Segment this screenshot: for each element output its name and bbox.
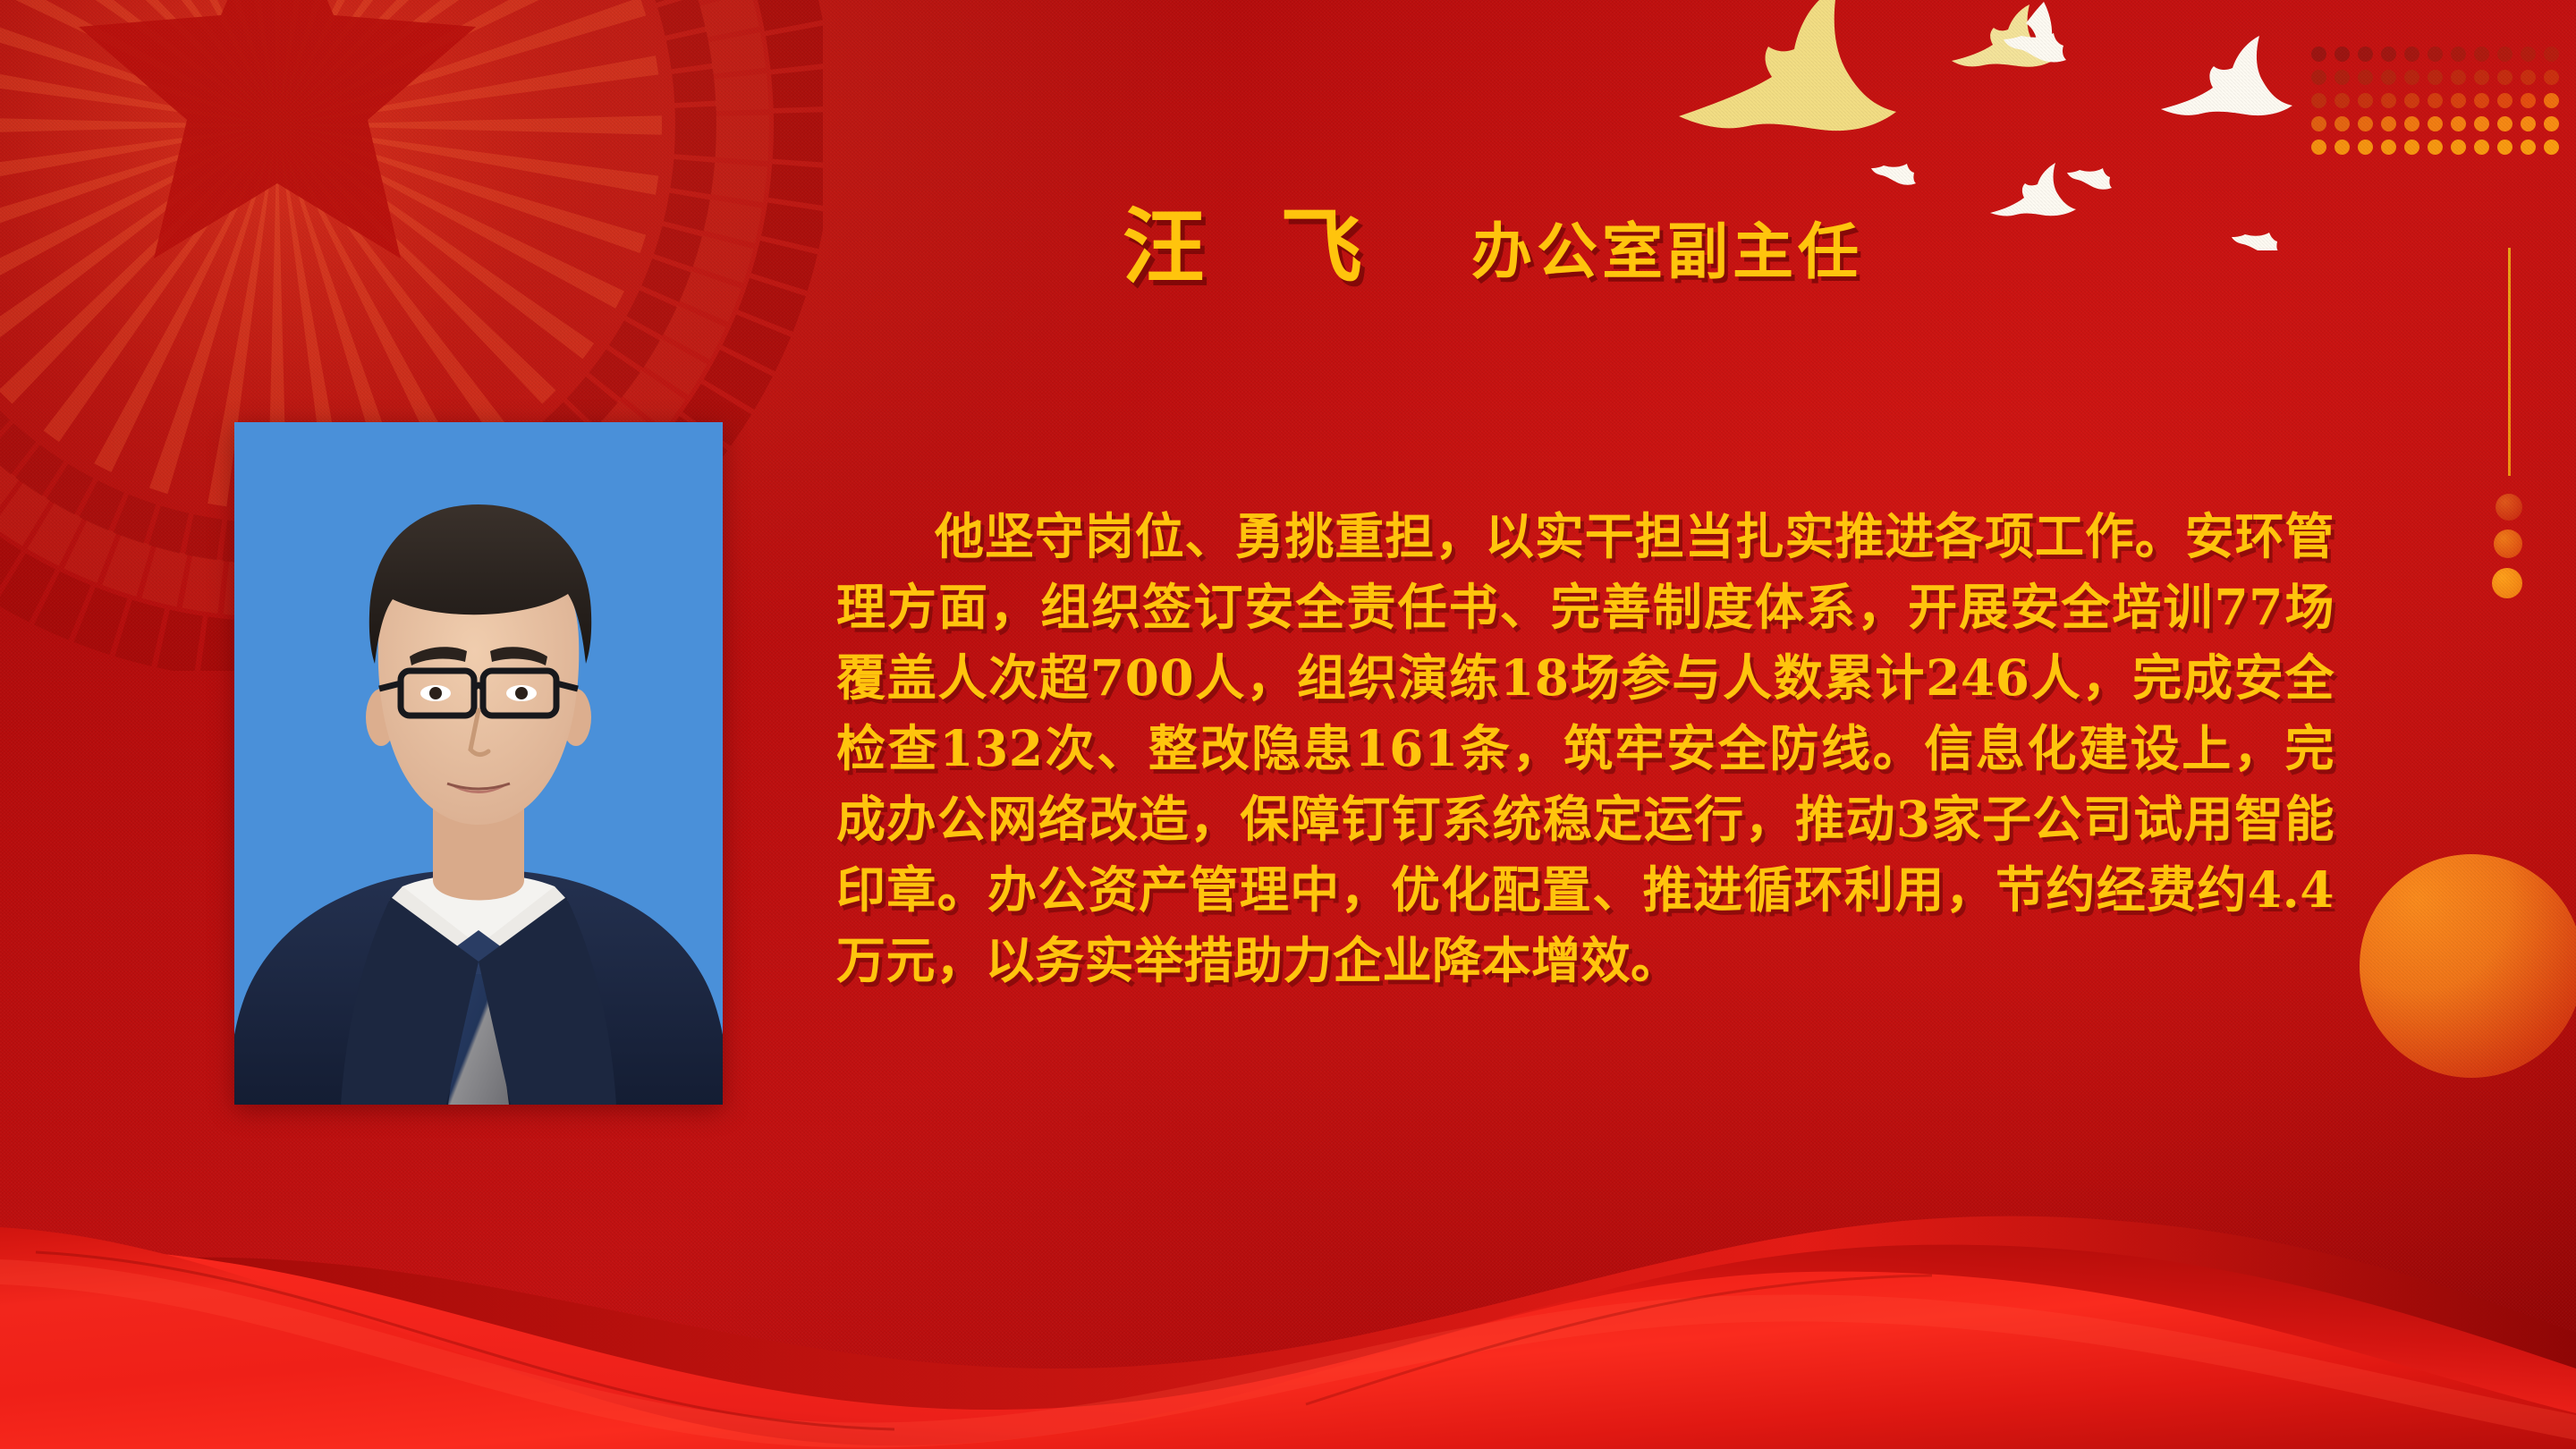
silk-fold-line-2 xyxy=(1306,1275,1932,1404)
dove-icon-small-white-4 xyxy=(1990,163,2076,216)
slide-canvas: 汪 飞 办公室副主任 他坚守岗位、勇挑重担，以实干担当扎实推进各项工作。安环管理… xyxy=(0,0,2576,1449)
dove-icon-small-gold-1 xyxy=(1952,4,2055,67)
dove-icon-small-white-5 xyxy=(2232,233,2279,250)
portrait-photo xyxy=(234,422,723,1105)
silk-layer-front xyxy=(0,1227,2576,1449)
headline: 汪 飞 办公室副主任 xyxy=(1123,206,1863,288)
dove-icon-medium-white xyxy=(2161,36,2292,115)
silk-fold-line-1 xyxy=(36,1252,894,1429)
dove-icon-large-gold xyxy=(1679,0,1896,131)
orange-dot-grid-decor xyxy=(2308,43,2563,159)
dove-icon-small-white-2 xyxy=(1871,164,1916,185)
orange-accent-dot-1 xyxy=(2495,494,2522,521)
silk-layer-mid xyxy=(0,1245,2576,1449)
orange-vertical-line-decor xyxy=(2508,248,2511,476)
person-name: 汪 飞 xyxy=(1123,206,1385,288)
pupil-right xyxy=(515,687,528,699)
dove-icon-small-white-3 xyxy=(2067,168,2112,190)
bio-paragraph: 他坚守岗位、勇挑重担，以实干担当扎实推进各项工作。安环管理方面，组织签订安全责任… xyxy=(836,501,2334,996)
silk-ribbon-decor xyxy=(0,1145,2576,1449)
pupil-left xyxy=(429,687,442,699)
dove-icon-small-white-1 xyxy=(2004,2,2066,62)
orange-accent-dot-3 xyxy=(2492,568,2522,598)
orange-accent-dot-2 xyxy=(2494,530,2522,558)
orange-sun-circle-decor xyxy=(2360,854,2576,1078)
person-position-title: 办公室副主任 xyxy=(1471,222,1863,288)
silk-layer-back xyxy=(0,1216,2576,1449)
five-pointed-star-icon xyxy=(79,0,476,258)
silk-highlight xyxy=(0,1259,2576,1448)
